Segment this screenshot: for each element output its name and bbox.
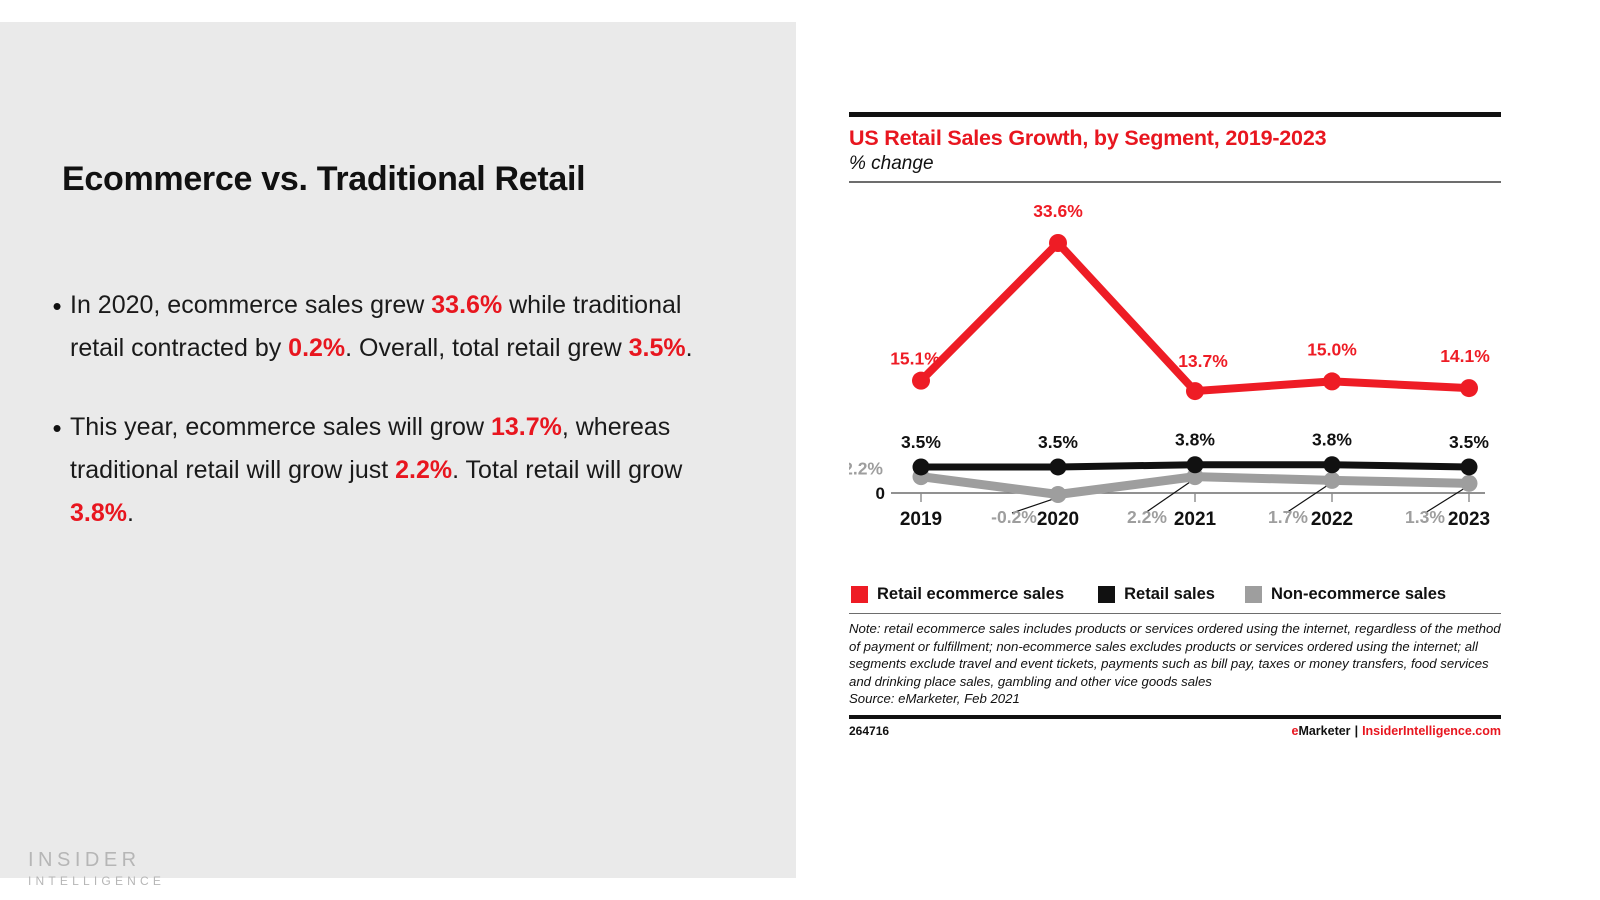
data-label-non-ecommerce: 2.2%: [849, 458, 883, 478]
left-content-panel: Ecommerce vs. Traditional Retail •In 202…: [0, 22, 796, 878]
data-label-ecommerce: 13.7%: [1178, 351, 1228, 371]
brand-separator: |: [1351, 724, 1363, 738]
logo-line-insider: INSIDER: [28, 848, 165, 872]
x-axis-tick-label: 2021: [1174, 509, 1217, 530]
data-label-non-ecommerce: 2.2%: [1127, 507, 1167, 527]
data-point[interactable]: [1049, 234, 1067, 252]
bullet-highlight-value: 0.2%: [288, 334, 345, 362]
bullet-text-fragment: . Total retail will grow: [452, 456, 682, 484]
insider-intelligence-logo: INSIDER INTELLIGENCE: [28, 848, 165, 890]
data-label-ecommerce: 15.0%: [1307, 339, 1357, 359]
bullet-highlight-value: 33.6%: [431, 291, 502, 319]
data-label-retail: 3.8%: [1175, 429, 1215, 449]
brand-attribution: eMarketer|InsiderIntelligence.com: [1291, 724, 1501, 738]
bullet-text-fragment: In 2020, ecommerce sales grew: [70, 291, 431, 319]
slide-canvas: Ecommerce vs. Traditional Retail •In 202…: [0, 0, 1600, 900]
bullet-text: This year, ecommerce sales will grow 13.…: [70, 406, 724, 535]
data-point[interactable]: [1323, 372, 1341, 390]
bullet-highlight-value: 3.5%: [629, 334, 686, 362]
chart-id-number: 264716: [849, 724, 889, 738]
bullet-item: •In 2020, ecommerce sales grew 33.6% whi…: [44, 284, 724, 370]
chart-source: Source: eMarketer, Feb 2021: [849, 690, 1501, 708]
chart-subtitle: % change: [849, 153, 1501, 175]
legend-swatch-icon: [1098, 586, 1115, 603]
data-point[interactable]: [1186, 382, 1204, 400]
zero-axis-label: 0: [876, 484, 885, 503]
legend-swatch-icon: [851, 586, 868, 603]
data-label-retail: 3.5%: [1038, 431, 1078, 451]
data-point[interactable]: [1324, 471, 1341, 488]
legend-item-1[interactable]: Retail sales: [1098, 585, 1215, 604]
chart-note: Note: retail ecommerce sales includes pr…: [849, 620, 1501, 690]
bullet-highlight-value: 2.2%: [395, 456, 452, 484]
bullet-text-fragment: .: [127, 499, 134, 527]
bullet-highlight-value: 3.8%: [70, 499, 127, 527]
divider-top: [849, 112, 1501, 117]
data-point[interactable]: [912, 371, 930, 389]
data-point[interactable]: [1187, 456, 1204, 473]
bullet-highlight-value: 13.7%: [491, 413, 562, 441]
divider-under-legend: [849, 613, 1501, 615]
divider-footer: [849, 715, 1501, 719]
data-point[interactable]: [1050, 458, 1067, 475]
bullet-text-fragment: .: [686, 334, 693, 362]
x-axis-tick-label: 2022: [1311, 509, 1353, 530]
x-axis-tick-label: 2020: [1037, 509, 1079, 530]
x-axis-tick-label: 2023: [1448, 509, 1490, 530]
legend-label: Retail ecommerce sales: [877, 585, 1064, 604]
data-label-retail: 3.5%: [1449, 431, 1489, 451]
data-point[interactable]: [1324, 456, 1341, 473]
legend-swatch-icon: [1245, 586, 1262, 603]
data-point[interactable]: [1461, 458, 1478, 475]
legend-label: Non-ecommerce sales: [1271, 585, 1446, 604]
bullet-marker-icon: •: [44, 406, 70, 450]
chart-footer: 264716 eMarketer|InsiderIntelligence.com: [849, 724, 1501, 738]
bullet-list: •In 2020, ecommerce sales grew 33.6% whi…: [44, 284, 724, 571]
legend-item-2[interactable]: Non-ecommerce sales: [1245, 585, 1446, 604]
data-point[interactable]: [1460, 379, 1478, 397]
legend-label: Retail sales: [1124, 585, 1215, 604]
logo-line-intelligence: INTELLIGENCE: [28, 872, 165, 890]
data-point[interactable]: [1050, 485, 1067, 502]
x-axis-tick-label: 2019: [900, 509, 942, 530]
brand-marketer: Marketer: [1298, 724, 1350, 738]
data-label-non-ecommerce: 1.3%: [1405, 507, 1445, 527]
data-label-retail: 3.5%: [901, 431, 941, 451]
bullet-marker-icon: •: [44, 284, 70, 328]
data-label-ecommerce: 15.1%: [890, 348, 940, 368]
data-point[interactable]: [1461, 474, 1478, 491]
chart-svg: 02019202020212022202315.1%33.6%13.7%15.0…: [849, 183, 1501, 583]
data-label-ecommerce: 33.6%: [1033, 201, 1083, 221]
data-label-non-ecommerce: -0.2%: [991, 507, 1037, 527]
data-point[interactable]: [913, 458, 930, 475]
line-chart-plot: 02019202020212022202315.1%33.6%13.7%15.0…: [849, 183, 1501, 583]
bullet-text-fragment: This year, ecommerce sales will grow: [70, 413, 491, 441]
bullet-item: •This year, ecommerce sales will grow 13…: [44, 406, 724, 535]
chart-legend: Retail ecommerce salesRetail salesNon-ec…: [849, 585, 1501, 604]
data-label-retail: 3.8%: [1312, 429, 1352, 449]
bullet-text: In 2020, ecommerce sales grew 33.6% whil…: [70, 284, 724, 370]
page-title: Ecommerce vs. Traditional Retail: [62, 160, 762, 199]
data-label-ecommerce: 14.1%: [1440, 346, 1490, 366]
legend-item-0[interactable]: Retail ecommerce sales: [851, 585, 1064, 604]
chart-title: US Retail Sales Growth, by Segment, 2019…: [849, 126, 1501, 151]
bullet-text-fragment: . Overall, total retail grew: [345, 334, 628, 362]
data-label-non-ecommerce: 1.7%: [1268, 507, 1308, 527]
brand-insiderintelligence[interactable]: InsiderIntelligence.com: [1362, 724, 1501, 738]
chart-card: US Retail Sales Growth, by Segment, 2019…: [849, 112, 1501, 738]
